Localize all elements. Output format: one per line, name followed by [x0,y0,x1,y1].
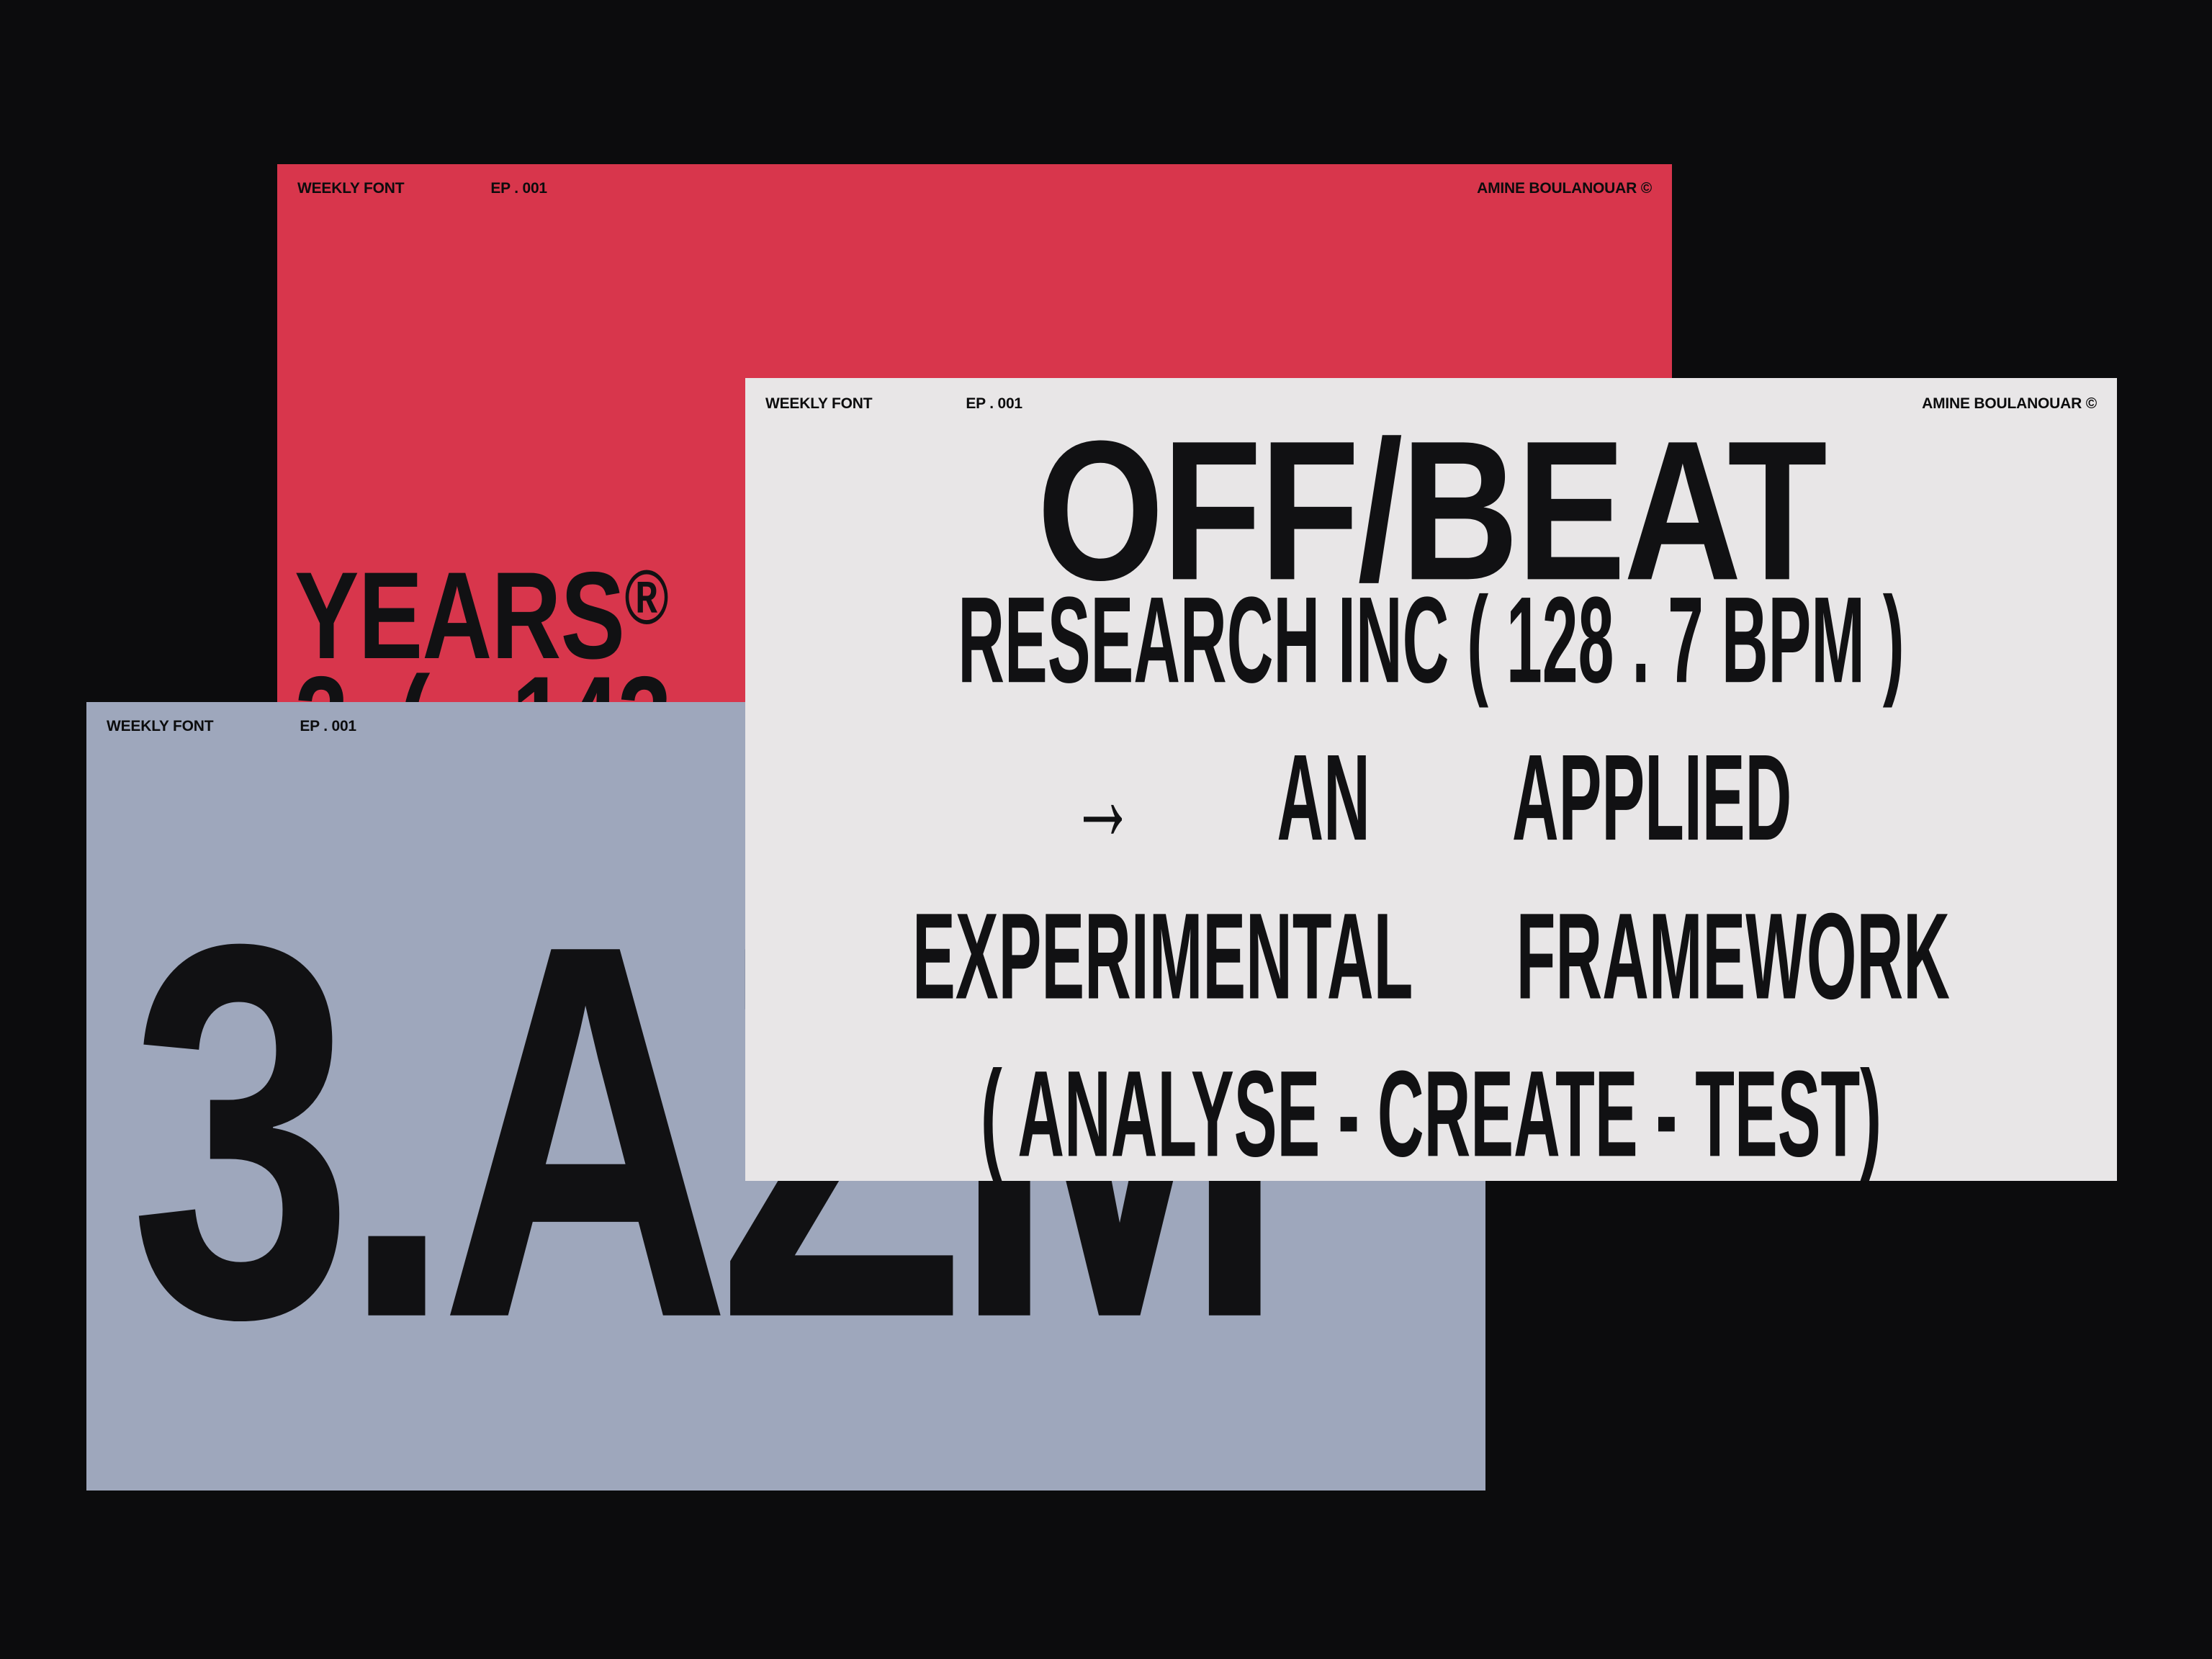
white-card-subtext: RESEARCH INC ( 128 . 7 BPM ) →ANAPPLIED … [883,562,1980,1181]
subtext-framework: FRAMEWORK [1516,888,1950,1025]
subtext-row-framework: EXPERIMENTALFRAMEWORK [883,878,1980,1036]
red-card-episode-label: EP . 001 [490,180,547,197]
poster-stage: WEEKLY FONT EP . 001 AMINE BOULANOUAR © … [0,0,2212,1659]
red-card-credit: AMINE BOULANOUAR © [1477,180,1652,197]
blue-card-episode-label: EP . 001 [300,718,356,735]
subtext-row-applied: →ANAPPLIED [883,720,1980,878]
subtext-applied: APPLIED [1512,729,1791,866]
blue-card-series-label: WEEKLY FONT [107,718,213,735]
red-card-series-label: WEEKLY FONT [297,180,404,197]
subtext-experimental: EXPERIMENTAL [912,888,1413,1025]
white-card-series-label: WEEKLY FONT [765,395,872,413]
registered-trademark-icon: ® [624,554,668,640]
subtext-row-process: ( ANALYSE - CREATE - TEST) [883,1036,1980,1181]
subtext-row-research: RESEARCH INC ( 128 . 7 BPM ) [883,562,1980,720]
white-card-episode-label: EP . 001 [966,395,1022,413]
arrow-right-icon: → [1071,720,1136,878]
subtext-an: AN [1277,729,1370,866]
white-card-body: OFF/BEAT RESEARCH INC ( 128 . 7 BPM ) →A… [745,431,2117,978]
white-card-credit: AMINE BOULANOUAR © [1922,395,2097,413]
white-poster-card[interactable]: WEEKLY FONT EP . 001 AMINE BOULANOUAR © … [745,378,2117,1181]
red-card-meta-row: WEEKLY FONT EP . 001 AMINE BOULANOUAR © [277,180,1672,197]
